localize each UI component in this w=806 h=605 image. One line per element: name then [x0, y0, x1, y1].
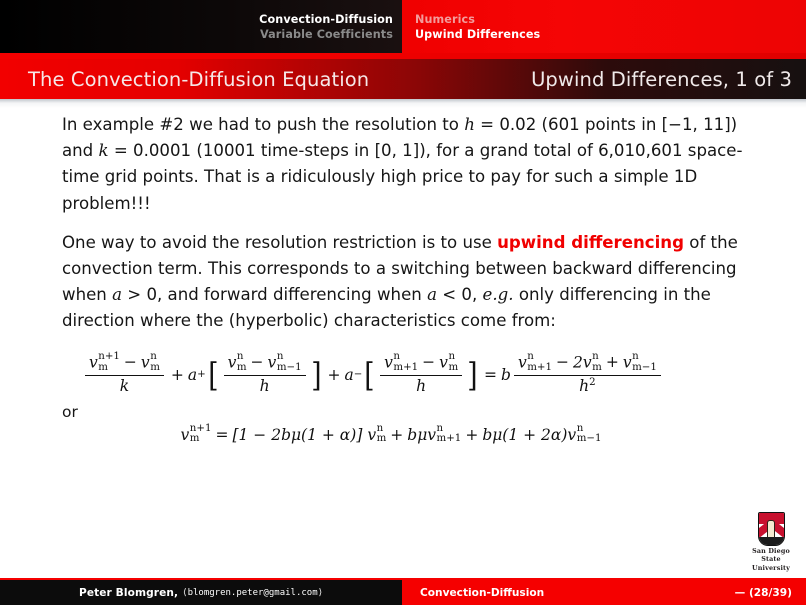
eq1-equals: = — [484, 366, 497, 384]
eq1-f2-v1-sub: m — [237, 363, 247, 373]
eq2-v-a: v — [367, 426, 376, 444]
sdsu-logo-line1: San Diego State — [744, 548, 798, 563]
eq1-plus-2: + — [327, 366, 340, 384]
fraction-numerator: vnm−vnm−1 — [224, 353, 306, 375]
eq1-f3-v1: v — [384, 353, 393, 371]
paragraph-example-resolution: In example #2 we had to push the resolut… — [62, 112, 750, 217]
slide-body: In example #2 we had to push the resolut… — [0, 112, 806, 446]
eq1-minus-2: − — [251, 353, 264, 371]
para1-text-3: = 0.0001 (10001 time-steps in [0, 1]), f… — [62, 141, 742, 212]
para2-eg-italic: e.g. — [483, 285, 514, 304]
para2-text-1: One way to avoid the resolution restrict… — [62, 233, 497, 252]
eq1-f3-v1-sub: m+1 — [393, 363, 418, 373]
highlight-upwind-differencing: upwind differencing — [497, 233, 684, 252]
eq1-bracket-open-2: [ — [365, 363, 375, 387]
equation-block-1: vn+1m−vnm k + a+ [ vnm−vnm−1 h ] + a− [ … — [62, 349, 750, 446]
fraction-second-difference: vnm+1−2vnm+vnm−1 h2 — [514, 353, 661, 396]
eq1-f4-den: h — [579, 377, 589, 395]
eq1-minus-1: − — [124, 353, 137, 371]
eq1-a-minus: a — [344, 366, 353, 384]
paragraph-upwind-explanation: One way to avoid the resolution restrict… — [62, 230, 750, 335]
fraction-numerator: vnm+1−2vnm+vnm−1 — [514, 353, 661, 375]
crest-bottom-band — [759, 537, 784, 545]
eq2-v-a-sub: m — [377, 434, 387, 444]
footer-author-name: Peter Blomgren, — [79, 587, 178, 599]
eq1-a-plus: a — [188, 366, 197, 384]
eq1-f4-coef: 2v — [573, 353, 592, 371]
eq2-plus-1: + — [390, 426, 403, 444]
fraction-denominator-h-1: h — [224, 375, 306, 396]
eq2-equals: = — [215, 426, 228, 444]
para2-var-a-1: a — [112, 285, 122, 304]
para2-text-3: > 0, and forward differencing when — [122, 285, 427, 304]
eq1-f4-v1-sub: m+1 — [527, 363, 552, 373]
footer-author-block: Peter Blomgren, ⟨blomgren.peter@gmail.co… — [0, 580, 402, 605]
footer-page-number: — (28/39) — [735, 587, 792, 599]
fraction-denominator-h-squared: h2 — [514, 375, 661, 397]
nav-section-convection-diffusion[interactable]: Convection-Diffusion Variable Coefficien… — [0, 0, 402, 53]
eq2-lhs-v: v — [181, 426, 190, 444]
nav-section-numerics[interactable]: Numerics Upwind Differences — [402, 0, 806, 53]
fraction-time-derivative: vn+1m−vnm k — [85, 353, 164, 396]
eq1-f4-v3: v — [623, 353, 632, 371]
fraction-numerator: vn+1m−vnm — [85, 353, 164, 375]
para1-text-1: In example #2 we had to push the resolut… — [62, 115, 464, 134]
explicit-update-equation: vn+1m = [1 − 2bμ(1 + α)] vnm + bμvnm+1 +… — [62, 425, 750, 446]
fraction-backward-difference: vnm−vnm−1 h — [224, 353, 306, 396]
eq1-f4-v2-sub: m — [592, 363, 602, 373]
eq2-bmu-term-1: bμv — [407, 426, 436, 444]
eq2-v-c-sub: m−1 — [577, 434, 602, 444]
page-subtitle-counter: Upwind Differences, 1 of 3 — [531, 68, 792, 91]
fraction-denominator-h-2: h — [380, 375, 462, 396]
eq1-f4-v3-sub: m−1 — [632, 363, 657, 373]
page-title: The Convection-Diffusion Equation — [28, 68, 369, 91]
eq1-v2: v — [141, 353, 150, 371]
eq1-a-plus-sup: + — [197, 369, 206, 380]
para2-text-4: < 0, — [437, 285, 483, 304]
nav-subsection-upwind-differences[interactable]: Upwind Differences — [415, 27, 540, 42]
eq1-f2-v1: v — [228, 353, 237, 371]
eq2-lhs-sub: m — [190, 434, 212, 444]
eq1-f2-v2-sub: m−1 — [277, 363, 302, 373]
slide-footer: Peter Blomgren, ⟨blomgren.peter@gmail.co… — [0, 580, 806, 605]
titlebar-drop-shadow — [0, 99, 806, 108]
eq1-plus-4: + — [606, 353, 619, 371]
eq2-plus-2: + — [465, 426, 478, 444]
eq1-f3-v2: v — [439, 353, 448, 371]
connector-or: or — [62, 403, 750, 421]
eq2-bracket-term: [1 − 2bμ(1 + α)] — [232, 426, 362, 444]
sdsu-crest-icon — [758, 512, 785, 546]
eq1-f2-v2: v — [268, 353, 277, 371]
nav-section-title[interactable]: Convection-Diffusion — [259, 12, 393, 27]
eq2-bmu-term-2: bμ(1 + 2α)v — [482, 426, 576, 444]
eq1-f4-den-sup: 2 — [589, 377, 596, 388]
presentation-slide: Convection-Diffusion Variable Coefficien… — [0, 0, 806, 605]
para2-var-a-2: a — [427, 285, 437, 304]
para1-var-h: h — [464, 115, 475, 134]
eq1-v2-sub: m — [150, 363, 160, 373]
fraction-denominator-k: k — [85, 375, 164, 396]
nav-subsection-variable-coefficients[interactable]: Variable Coefficients — [260, 27, 393, 42]
fraction-forward-difference: vnm+1−vnm h — [380, 353, 462, 396]
eq1-minus-3: − — [422, 353, 435, 371]
eq1-bracket-open-1: [ — [208, 363, 218, 387]
eq1-minus-4: − — [556, 353, 569, 371]
sdsu-logo: San Diego State University — [744, 512, 798, 570]
eq1-f3-v2-sub: m — [448, 363, 458, 373]
eq1-v1-sub: m — [98, 363, 120, 373]
slide-title-bar: The Convection-Diffusion Equation Upwind… — [0, 59, 806, 99]
eq1-bracket-close-2: ] — [467, 363, 477, 387]
footer-topic-block: Convection-Diffusion — (28/39) — [402, 580, 806, 605]
upwind-scheme-equation: vn+1m−vnm k + a+ [ vnm−vnm−1 h ] + a− [ … — [62, 349, 750, 401]
sdsu-logo-line2: University — [744, 565, 798, 573]
footer-topic: Convection-Diffusion — [420, 587, 544, 599]
eq1-v1: v — [89, 353, 98, 371]
eq1-a-minus-sup: − — [354, 369, 363, 380]
eq1-bracket-close-1: ] — [311, 363, 321, 387]
fraction-numerator: vnm+1−vnm — [380, 353, 462, 375]
eq1-coef-b: b — [501, 366, 511, 384]
eq1-f4-v1: v — [518, 353, 527, 371]
eq2-v-b-sub: m+1 — [437, 434, 462, 444]
para1-var-k: k — [99, 141, 109, 160]
nav-section-numerics-title[interactable]: Numerics — [415, 12, 475, 27]
eq1-plus-1: + — [171, 366, 184, 384]
section-navigation-bar: Convection-Diffusion Variable Coefficien… — [0, 0, 806, 53]
footer-author-email: ⟨blomgren.peter@gmail.com⟩ — [182, 588, 323, 598]
